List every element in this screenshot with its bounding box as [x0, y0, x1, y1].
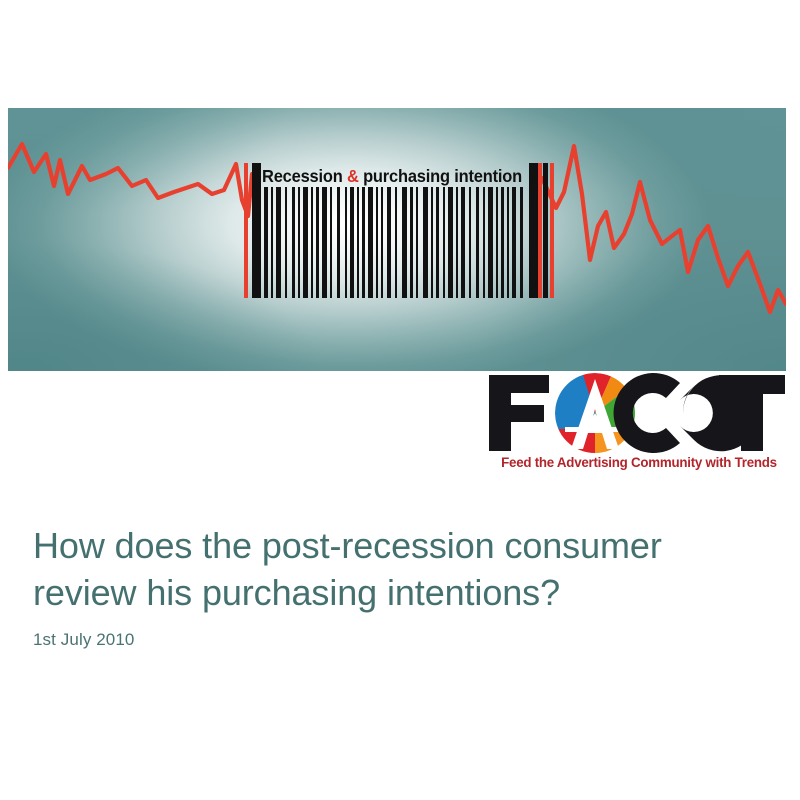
barcode-label-ampersand: &: [347, 166, 359, 186]
barcode-bars: [242, 187, 554, 298]
logo-letter-f: [489, 375, 549, 451]
fact-logo: Feed the Advertising Community with Tren…: [487, 371, 787, 479]
page-title: How does the post-recession consumer rev…: [33, 522, 763, 616]
barcode-label-prefix: Recession: [262, 166, 347, 186]
barcode-label: Recession & purchasing intention: [262, 163, 522, 189]
fact-wordmark: [487, 371, 787, 453]
title-block: How does the post-recession consumer rev…: [33, 522, 763, 616]
fact-tagline: Feed the Advertising Community with Tren…: [494, 455, 784, 470]
page-date: 1st July 2010: [33, 630, 134, 650]
barcode-graphic: Recession & purchasing intention: [242, 163, 554, 298]
barcode-label-suffix: purchasing intention: [359, 166, 522, 186]
